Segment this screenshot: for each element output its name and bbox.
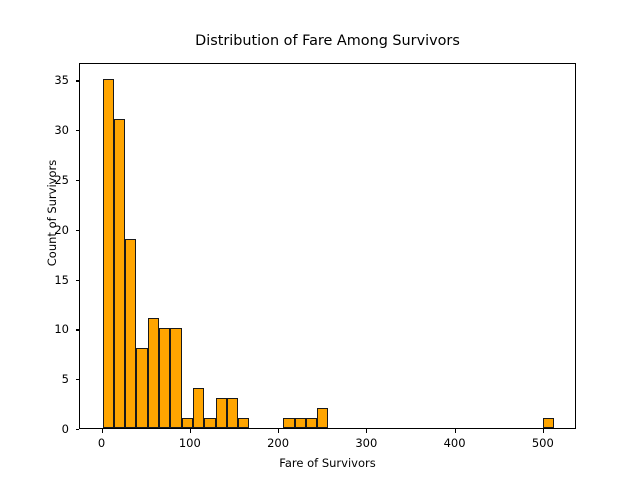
histogram-bar [136,348,147,428]
histogram-bar [204,418,215,428]
histogram-bars [80,64,575,428]
y-tick-label: 15 [9,273,69,287]
histogram-bar [148,318,159,428]
x-tick-mark [455,429,456,433]
histogram-bar [227,398,238,428]
histogram-bar [306,418,317,428]
x-tick-mark [543,429,544,433]
y-tick-label: 30 [9,123,69,137]
histogram-bar [238,418,249,428]
y-tick-label: 0 [9,422,69,436]
chart-title: Distribution of Fare Among Survivors [79,33,576,49]
histogram-bar [295,418,306,428]
y-tick-label: 20 [9,223,69,237]
histogram-bar [317,408,328,428]
x-axis-label: Fare of Survivors [79,456,576,470]
x-tick-mark [278,429,279,433]
x-tick-label: 500 [518,436,568,450]
histogram-bar [170,328,181,428]
histogram-bar [283,418,294,428]
x-tick-label: 0 [77,436,127,450]
x-tick-mark [102,429,103,433]
y-tick-label: 35 [9,73,69,87]
histogram-bar [543,418,554,428]
histogram-bar [182,418,193,428]
y-tick-label: 5 [9,372,69,386]
matplotlib-figure: Distribution of Fare Among Survivors Cou… [0,0,640,480]
histogram-bar [216,398,227,428]
x-tick-label: 300 [341,436,391,450]
y-tick-label: 25 [9,173,69,187]
x-tick-label: 200 [253,436,303,450]
histogram-bar [114,119,125,428]
x-tick-mark [366,429,367,433]
x-tick-label: 400 [430,436,480,450]
plot-area [79,63,576,429]
y-axis-label: Count of Survivors [45,133,59,293]
x-tick-mark [190,429,191,433]
histogram-bar [159,328,170,428]
histogram-bar [193,388,204,428]
histogram-bar [103,79,114,428]
y-tick-mark [76,429,80,430]
x-tick-label: 100 [165,436,215,450]
histogram-bar [125,239,136,428]
y-tick-label: 10 [9,322,69,336]
